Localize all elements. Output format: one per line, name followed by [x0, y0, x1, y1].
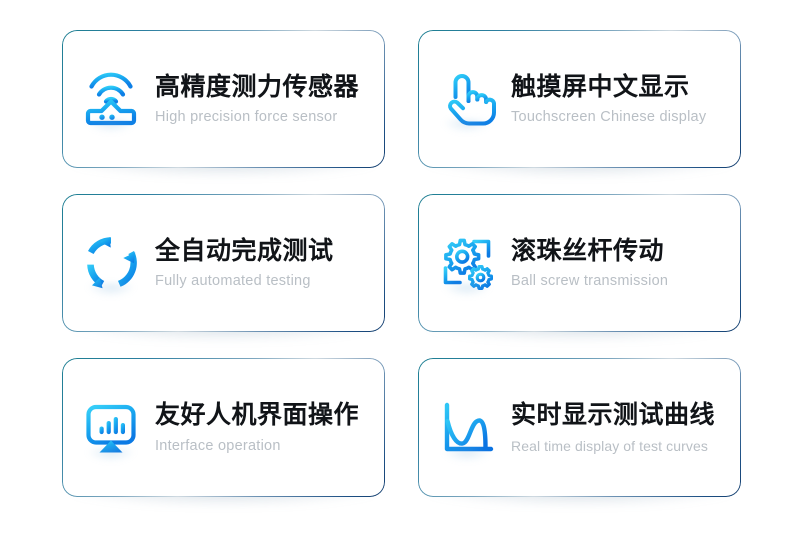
card-subtitle: Touchscreen Chinese display [511, 109, 706, 126]
line-curve-chart-icon [435, 396, 499, 460]
card-text-block: 友好人机界面操作 Interface operation [155, 400, 359, 455]
feature-card-touchscreen[interactable]: 触摸屏中文显示 Touchscreen Chinese display [418, 30, 741, 168]
feature-card-ball-screw[interactable]: 滚珠丝杆传动 Ball screw transmission [418, 194, 741, 332]
card-title: 实时显示测试曲线 [511, 400, 715, 431]
feature-card-test-curves[interactable]: 实时显示测试曲线 Real time display of test curve… [418, 358, 741, 497]
wireless-force-sensor-icon [79, 67, 143, 131]
card-text-block: 触摸屏中文显示 Touchscreen Chinese display [511, 72, 706, 127]
feature-card-automated-testing[interactable]: 全自动完成测试 Fully automated testing [62, 194, 385, 332]
card-title: 触摸屏中文显示 [511, 72, 706, 103]
card-title: 滚珠丝杆传动 [511, 236, 668, 267]
card-title: 高精度测力传感器 [155, 72, 359, 103]
feature-card-force-sensor[interactable]: 高精度测力传感器 High precision force sensor [62, 30, 385, 168]
card-text-block: 滚珠丝杆传动 Ball screw transmission [511, 236, 668, 291]
card-title: 全自动完成测试 [155, 236, 334, 267]
card-subtitle: High precision force sensor [155, 109, 359, 126]
card-subtitle: Interface operation [155, 438, 359, 455]
feature-card-grid: 高精度测力传感器 High precision force sensor [62, 30, 740, 497]
card-subtitle: Fully automated testing [155, 273, 334, 290]
card-subtitle: Real time display of test curves [511, 438, 715, 455]
feature-card-interface-operation[interactable]: 友好人机界面操作 Interface operation [62, 358, 385, 497]
card-title: 友好人机界面操作 [155, 400, 359, 431]
gears-icon [435, 231, 499, 295]
card-text-block: 高精度测力传感器 High precision force sensor [155, 72, 359, 127]
card-text-block: 实时显示测试曲线 Real time display of test curve… [511, 400, 715, 454]
monitor-bar-chart-icon [79, 396, 143, 460]
touch-hand-icon [435, 67, 499, 131]
card-text-block: 全自动完成测试 Fully automated testing [155, 236, 334, 291]
circular-arrows-icon [79, 231, 143, 295]
card-subtitle: Ball screw transmission [511, 273, 668, 290]
